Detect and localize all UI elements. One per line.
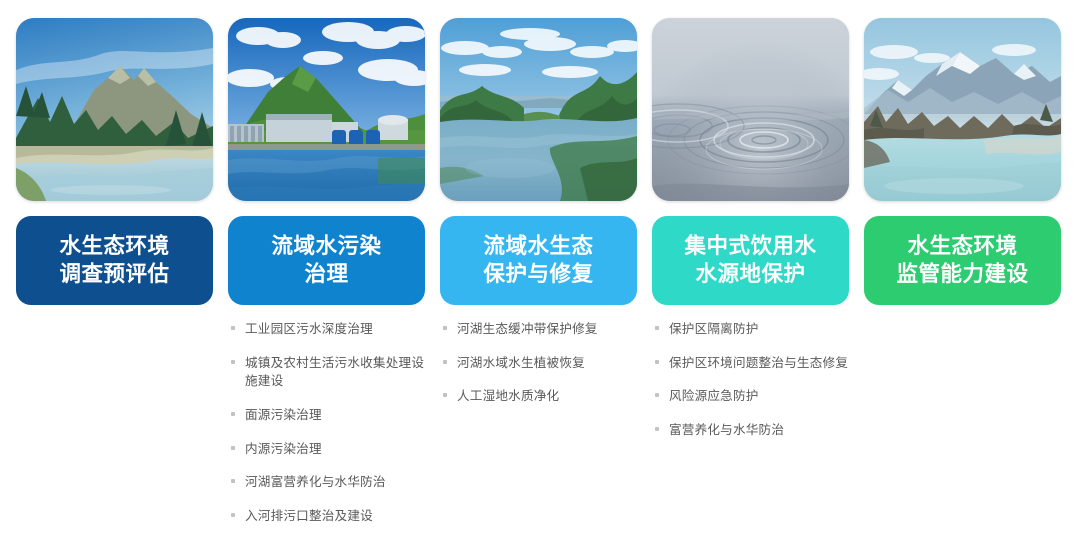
- snow-mountain-river-photo: [864, 18, 1061, 201]
- list-item-label: 保护区隔离防护: [669, 322, 759, 336]
- mountain-river-forest-photo: [16, 18, 213, 201]
- list-item: 城镇及农村生活污水收集处理设施建设: [228, 354, 425, 391]
- list-item: 保护区隔离防护: [652, 320, 849, 339]
- list-item-label: 工业园区污水深度治理: [245, 322, 373, 336]
- list-item-label: 富营养化与水华防治: [669, 423, 784, 437]
- list-item-label: 风险源应急防护: [669, 389, 759, 403]
- list-item: 风险源应急防护: [652, 387, 849, 406]
- list-item: 河湖富营养化与水华防治: [228, 473, 425, 492]
- list-item-label: 河湖富营养化与水华防治: [245, 475, 386, 489]
- column-pollution-control: 流域水污染 治理 工业园区污水深度治理城镇及农村生活污水收集处理设施建设面源污染…: [228, 18, 425, 525]
- list-item: 内源污染治理: [228, 440, 425, 459]
- column-drinking-water: 集中式饮用水 水源地保护 保护区隔离防护保护区环境问题整治与生态修复风险源应急防…: [652, 18, 849, 440]
- list-item: 保护区环境问题整治与生态修复: [652, 354, 849, 373]
- list-item: 工业园区污水深度治理: [228, 320, 425, 339]
- list-item-label: 入河排污口整治及建设: [245, 509, 373, 523]
- bullet-list-drinking-water: 保护区隔离防护保护区环境问题整治与生态修复风险源应急防护富营养化与水华防治: [652, 320, 849, 440]
- column-supervision: 水生态环境 监管能力建设: [864, 18, 1061, 320]
- bullet-marker-icon: [231, 326, 235, 330]
- bullet-marker-icon: [231, 360, 235, 364]
- list-item: 河湖生态缓冲带保护修复: [440, 320, 637, 339]
- list-item: 面源污染治理: [228, 406, 425, 425]
- bullet-marker-icon: [655, 427, 659, 431]
- list-item: 人工湿地水质净化: [440, 387, 637, 406]
- bullet-list-pollution-control: 工业园区污水深度治理城镇及农村生活污水收集处理设施建设面源污染治理内源污染治理河…: [228, 320, 425, 525]
- bullet-marker-icon: [443, 360, 447, 364]
- title-pill-eco-protection[interactable]: 流域水生态 保护与修复: [440, 216, 637, 305]
- title-pill-pollution-control[interactable]: 流域水污染 治理: [228, 216, 425, 305]
- column-container: 水生态环境 调查预评估: [16, 18, 1064, 525]
- bullet-marker-icon: [443, 393, 447, 397]
- bullet-marker-icon: [231, 446, 235, 450]
- infographic-board: 水生态环境 调查预评估: [0, 0, 1080, 540]
- bullet-marker-icon: [655, 360, 659, 364]
- list-item: 富营养化与水华防治: [652, 421, 849, 440]
- bullet-marker-icon: [231, 412, 235, 416]
- bullet-marker-icon: [231, 513, 235, 517]
- list-item: 河湖水域水生植被恢复: [440, 354, 637, 373]
- column-assessment: 水生态环境 调查预评估: [16, 18, 213, 320]
- bullet-marker-icon: [443, 326, 447, 330]
- bullet-marker-icon: [231, 479, 235, 483]
- water-treatment-plant-photo: [228, 18, 425, 201]
- title-pill-drinking-water[interactable]: 集中式饮用水 水源地保护: [652, 216, 849, 305]
- list-item: 入河排污口整治及建设: [228, 507, 425, 526]
- list-item-label: 内源污染治理: [245, 442, 322, 456]
- bullet-marker-icon: [655, 326, 659, 330]
- list-item-label: 河湖水域水生植被恢复: [457, 356, 585, 370]
- title-pill-assessment[interactable]: 水生态环境 调查预评估: [16, 216, 213, 305]
- list-item-label: 保护区环境问题整治与生态修复: [669, 356, 848, 370]
- list-item-label: 人工湿地水质净化: [457, 389, 559, 403]
- list-item-label: 城镇及农村生活污水收集处理设施建设: [245, 356, 424, 389]
- bullet-list-eco-protection: 河湖生态缓冲带保护修复河湖水域水生植被恢复人工湿地水质净化: [440, 320, 637, 406]
- list-item-label: 面源污染治理: [245, 408, 322, 422]
- water-ripple-photo: [652, 18, 849, 201]
- river-wetland-photo: [440, 18, 637, 201]
- bullet-marker-icon: [655, 393, 659, 397]
- list-item-label: 河湖生态缓冲带保护修复: [457, 322, 598, 336]
- column-eco-protection: 流域水生态 保护与修复 河湖生态缓冲带保护修复河湖水域水生植被恢复人工湿地水质净…: [440, 18, 637, 406]
- title-pill-supervision[interactable]: 水生态环境 监管能力建设: [864, 216, 1061, 305]
